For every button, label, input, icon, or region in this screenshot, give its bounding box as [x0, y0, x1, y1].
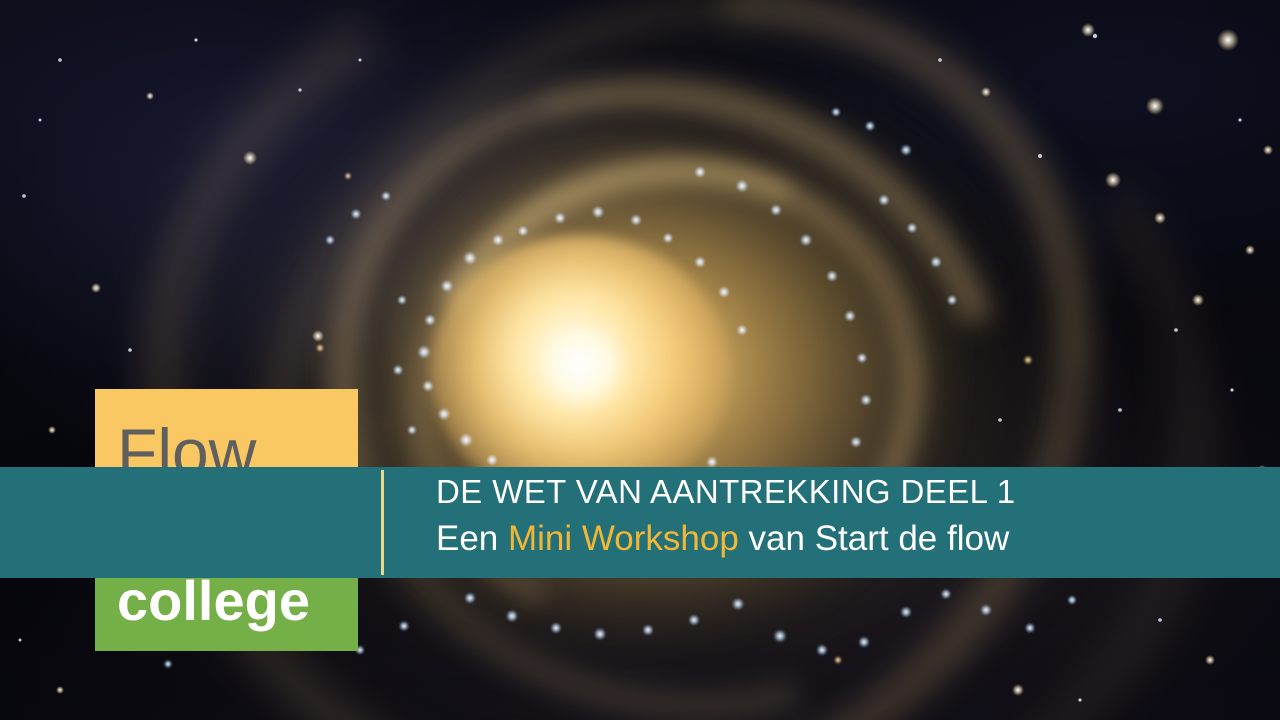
- subtitle-highlight: Mini Workshop: [508, 519, 739, 558]
- subtitle-prefix: Een: [436, 519, 508, 558]
- slide-heading: DE WET VAN AANTREKKING DEEL 1: [436, 470, 1015, 514]
- title-text-group: DE WET VAN AANTREKKING DEEL 1 Een Mini W…: [436, 467, 1236, 578]
- slide-subtitle: Een Mini Workshop van Start de flow: [436, 516, 1009, 562]
- presentation-slide: Flow college DE WET VAN AANTREKKING DEEL…: [0, 0, 1280, 720]
- title-accent-rule: [381, 470, 384, 575]
- subtitle-suffix: van Start de flow: [739, 519, 1009, 558]
